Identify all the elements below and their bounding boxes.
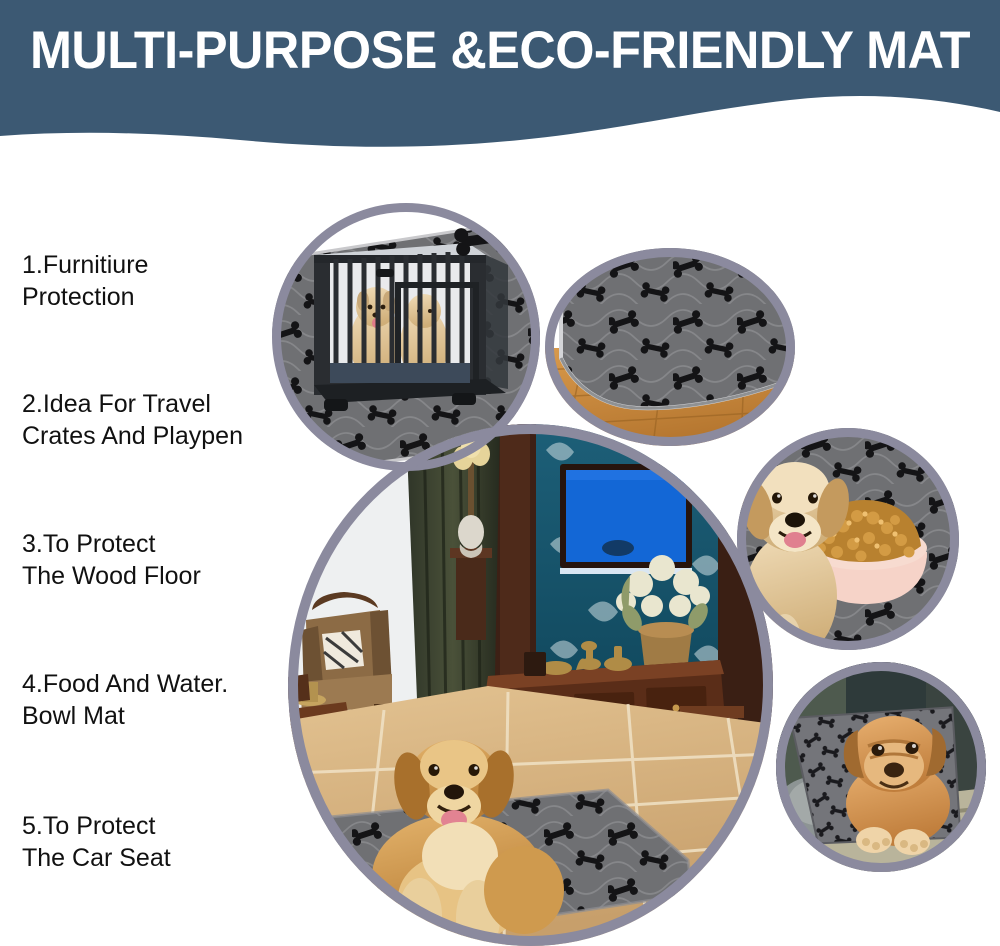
infographic-canvas: MULTI-PURPOSE &ECO-FRIENDLY MAT 1.Furnit… [0,0,1000,946]
feature-list: 1.Furnitiure Protection 2.Idea For Trave… [0,0,290,946]
puppy-illustration [844,716,950,855]
bubble-food-bowl-photo [737,428,959,650]
feature-item-protect-wood-floor: 3.To Protect The Wood Floor [22,528,290,592]
feature-item-food-water-bowl-mat: 4.Food And Water. Bowl Mat [22,668,290,732]
bubble-mat-on-wood-floor-photo [545,248,795,446]
feature-item-furniture-protection: 1.Furnitiure Protection [22,249,290,313]
feature-item-protect-car-seat: 5.To Protect The Car Seat [22,810,290,874]
feature-item-travel-crates-playpen: 2.Idea For Travel Crates And Playpen [22,388,290,452]
bubble-living-room-photo [288,424,773,946]
bubble-car-seat-photo [776,662,986,872]
